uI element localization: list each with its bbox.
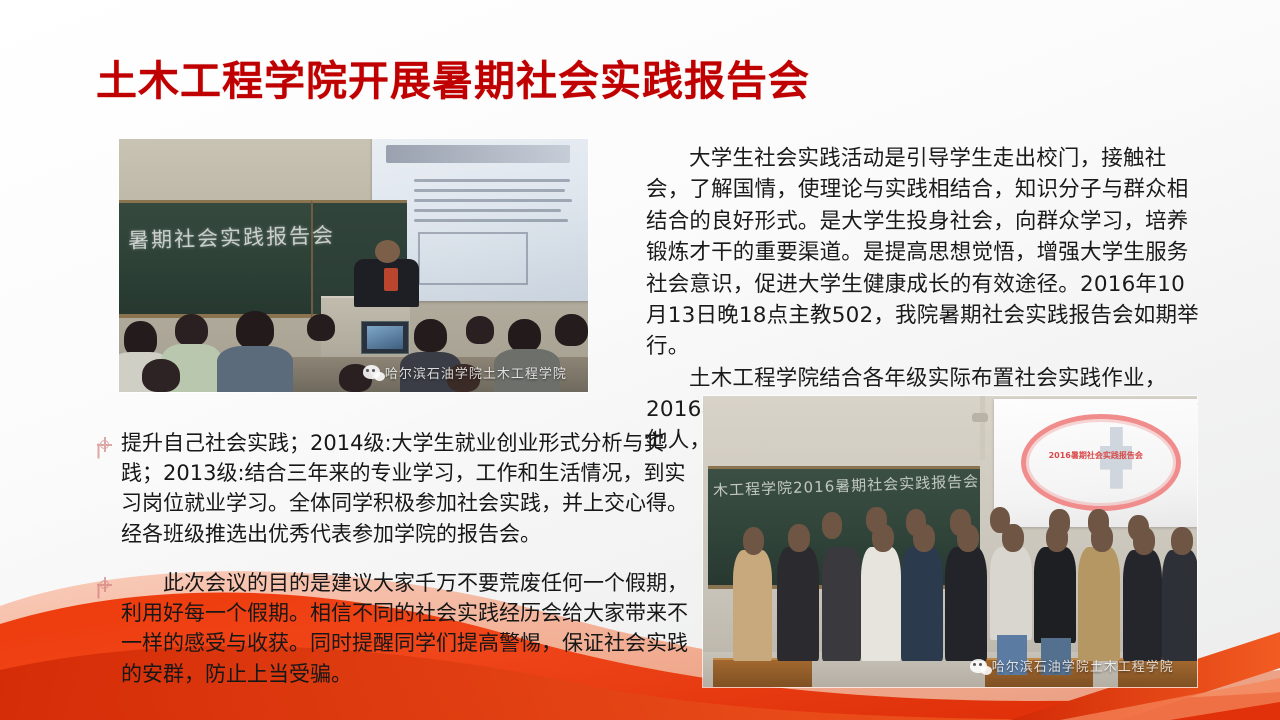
paragraph-1: 大学生社会实践活动是引导学生走出校门，接触社会，了解国情，使理论与实践相结合，知…	[646, 143, 1206, 363]
slide-text-line	[414, 179, 570, 182]
student-head	[788, 524, 810, 552]
logo-text: 2016暑期社会实践报告会	[994, 450, 1197, 461]
student-head	[872, 524, 894, 552]
student-body	[1162, 550, 1197, 661]
student-body	[1078, 547, 1120, 660]
bullet-item-2: 此次会议的目的是建议大家千万不要荒废任何一个假期，利用好每一个假期。相信不同的社…	[97, 568, 697, 689]
watermark-text: 哈尔滨石油学院土木工程学院	[385, 363, 567, 382]
wall-pipe	[980, 396, 985, 460]
presentation-slide: 土木工程学院开展暑期社会实践报告会 暑期社会实践报告会	[0, 0, 1280, 720]
audience-head	[555, 314, 588, 347]
projection-screen: 2016暑期社会实践报告会	[994, 399, 1197, 527]
audience-head	[175, 314, 208, 347]
laptop	[361, 321, 410, 353]
student-head	[822, 512, 843, 538]
blackboard-chalk-text: 暑期社会实践报告会	[128, 220, 336, 255]
student-head	[957, 524, 979, 552]
slide-text-line	[414, 209, 561, 212]
student-body	[1123, 550, 1163, 661]
student-head	[1091, 524, 1113, 552]
student-body	[777, 547, 819, 660]
student-body	[861, 547, 901, 660]
speaker-arm	[384, 268, 398, 291]
photo1-watermark: 哈尔滨石油学院土木工程学院	[363, 363, 567, 382]
student-body	[945, 547, 987, 660]
student-body	[733, 550, 773, 661]
slide-text-line	[414, 189, 566, 192]
desk	[713, 658, 812, 687]
diamond-bullet-icon	[97, 577, 112, 592]
student-head	[1002, 524, 1024, 552]
diamond-bullet-icon	[97, 437, 112, 452]
bullet-1-text: 提升自己社会实践；2014级:大学生就业创业形式分析与实践；2013级:结合三年…	[121, 428, 697, 549]
photo2-watermark: 哈尔滨石油学院土木工程学院	[970, 656, 1174, 675]
student-body	[822, 547, 862, 660]
audience-head	[508, 319, 541, 352]
audience-head	[236, 311, 274, 349]
bullet-2-text: 此次会议的目的是建议大家千万不要荒废任何一个假期，利用好每一个假期。相信不同的社…	[121, 568, 697, 689]
bullet-item-1: 提升自己社会实践；2014级:大学生就业创业形式分析与实践；2013级:结合三年…	[97, 428, 697, 549]
audience-head	[466, 316, 494, 344]
lecture-hall-photo: 暑期社会实践报告会 哈尔滨石油学院土木工程学院	[119, 139, 588, 392]
slide-text-line	[414, 199, 573, 202]
wechat-icon	[970, 659, 987, 673]
audience-head	[142, 359, 180, 392]
slide-text-line	[414, 219, 568, 222]
speaker-head	[375, 240, 400, 263]
student-head	[743, 527, 765, 555]
slide-title-bar	[386, 145, 570, 163]
student-body	[990, 547, 1032, 640]
wechat-icon	[363, 365, 380, 379]
wall-pipe-cap	[972, 413, 988, 422]
audience-head	[307, 314, 335, 342]
audience-body	[217, 346, 292, 392]
watermark-text: 哈尔滨石油学院土木工程学院	[992, 656, 1174, 675]
student-head	[913, 524, 935, 552]
student-head	[1046, 524, 1068, 552]
group-photo: 2016暑期社会实践报告会 木工程学院2016暑期社会实践报告会	[703, 396, 1197, 687]
audience-head	[414, 319, 447, 352]
slide-figure	[418, 232, 528, 285]
page-title: 土木工程学院开展暑期社会实践报告会	[96, 60, 810, 103]
student-head	[1133, 527, 1155, 555]
student-body	[1034, 547, 1076, 643]
student-head	[1171, 527, 1193, 555]
student-body	[901, 547, 943, 660]
